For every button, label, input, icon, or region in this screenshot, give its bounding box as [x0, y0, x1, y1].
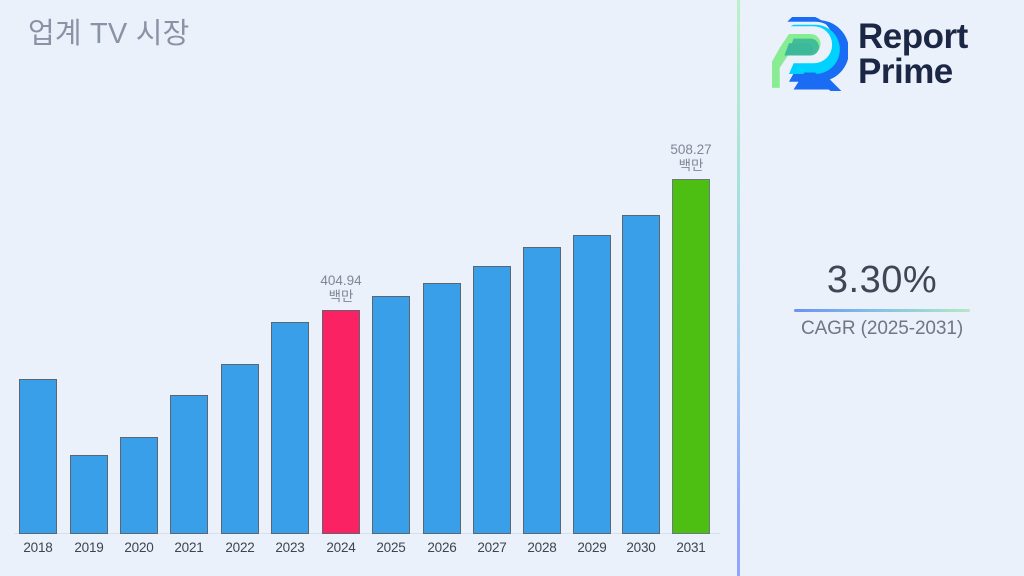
bar-2020[interactable]: [120, 437, 158, 534]
cagr-value: 3.30%: [740, 258, 1024, 302]
bar-slot-2021: [170, 110, 208, 534]
right-panel: Report Prime 3.30% CAGR (2025-2031): [740, 0, 1024, 576]
bar-2031[interactable]: 508.27백만: [672, 179, 710, 534]
slide-root: 업계 TV 시장 404.94백만508.27백만 20182019202020…: [0, 0, 1024, 576]
x-tick-2023: 2023: [271, 540, 309, 555]
bar-2024[interactable]: 404.94백만: [322, 310, 360, 534]
bar-slot-2028: [523, 110, 561, 534]
bar-slot-2018: [19, 110, 57, 534]
cagr-block: 3.30% CAGR (2025-2031): [740, 258, 1024, 340]
bar-chart-plot-area: 404.94백만508.27백만: [0, 110, 738, 534]
bar-slot-2027: [473, 110, 511, 534]
cagr-divider-rule: [794, 309, 970, 312]
x-tick-2029: 2029: [573, 540, 611, 555]
x-tick-2024: 2024: [322, 540, 360, 555]
bar-slot-2022: [221, 110, 259, 534]
report-prime-wordmark: Report Prime: [858, 19, 968, 89]
x-tick-2018: 2018: [19, 540, 57, 555]
bar-slot-2025: [372, 110, 410, 534]
x-tick-2031: 2031: [672, 540, 710, 555]
bar-2022[interactable]: [221, 364, 259, 534]
page-title: 업계 TV 시장: [28, 10, 190, 52]
x-tick-2026: 2026: [423, 540, 461, 555]
x-tick-2019: 2019: [70, 540, 108, 555]
bar-2029[interactable]: [573, 235, 611, 534]
x-tick-2028: 2028: [523, 540, 561, 555]
x-tick-2030: 2030: [622, 540, 660, 555]
logo-word-prime: Prime: [858, 54, 968, 89]
bar-2026[interactable]: [423, 283, 461, 534]
bar-slot-2024: 404.94백만: [322, 110, 360, 534]
bar-2019[interactable]: [70, 455, 108, 534]
bar-slot-2026: [423, 110, 461, 534]
x-tick-2027: 2027: [473, 540, 511, 555]
bar-slot-2020: [120, 110, 158, 534]
x-tick-2025: 2025: [372, 540, 410, 555]
bar-value-label-2024: 404.94백만: [320, 273, 361, 305]
bar-2021[interactable]: [170, 395, 208, 534]
bar-value-unit: 백만: [670, 158, 711, 174]
bar-2025[interactable]: [372, 296, 410, 534]
bar-value-number: 508.27: [670, 142, 711, 158]
bar-slot-2023: [271, 110, 309, 534]
bar-slot-2031: 508.27백만: [672, 110, 710, 534]
bar-2027[interactable]: [473, 266, 511, 534]
bar-2030[interactable]: [622, 215, 660, 534]
report-prime-logo: Report Prime: [770, 8, 1010, 100]
x-tick-2021: 2021: [170, 540, 208, 555]
bar-slot-2030: [622, 110, 660, 534]
x-tick-2020: 2020: [120, 540, 158, 555]
logo-word-report: Report: [858, 17, 968, 56]
x-tick-2022: 2022: [221, 540, 259, 555]
bar-value-unit: 백만: [320, 289, 361, 305]
bar-slot-2019: [70, 110, 108, 534]
bar-2023[interactable]: [271, 322, 309, 534]
bar-2018[interactable]: [19, 379, 57, 534]
chart-panel: 업계 TV 시장 404.94백만508.27백만 20182019202020…: [0, 0, 738, 576]
bar-value-label-2031: 508.27백만: [670, 142, 711, 174]
bar-2028[interactable]: [523, 247, 561, 534]
x-axis-tick-labels: 2018201920202021202220232024202520262027…: [0, 540, 738, 566]
report-prime-mark-icon: [770, 17, 848, 91]
cagr-caption: CAGR (2025-2031): [740, 318, 1024, 340]
bar-value-number: 404.94: [320, 273, 361, 289]
bar-slot-2029: [573, 110, 611, 534]
